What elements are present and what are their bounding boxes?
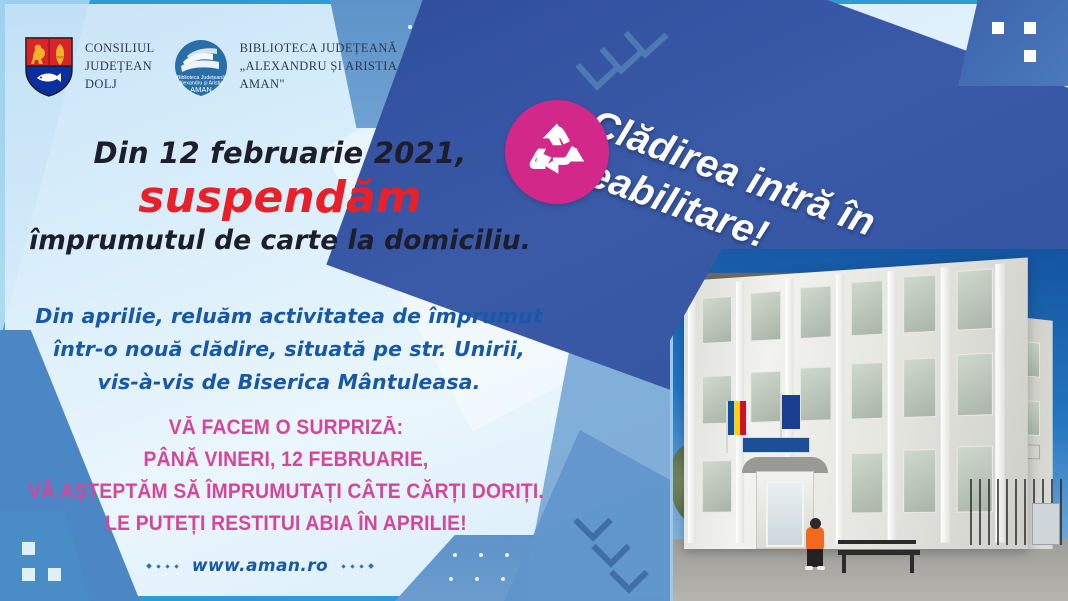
kiosk	[1032, 503, 1060, 545]
aman-library-emblem-icon: Biblioteca Județeană Alexandru și Aristi…	[173, 36, 229, 98]
headline-line-3: împrumutul de carte la domiciliu.	[0, 225, 560, 256]
council-line-3: DOLJ	[85, 75, 155, 93]
footer-bar: www.aman.ro	[0, 556, 520, 576]
promo-line-4: LE PUTEȚI RESTITUI ABIA ÎN APRILIE!	[23, 508, 549, 540]
council-line-2: JUDEȚEAN	[85, 57, 155, 75]
library-line-3: AMAN"	[240, 75, 398, 93]
county-council-label: CONSILIUL JUDEȚEAN DOLJ	[85, 36, 155, 93]
footer-dots-right	[342, 564, 373, 568]
eu-flag	[782, 395, 800, 429]
paragraph-line-3: vis-à-vis de Biserica Mântuleasa.	[0, 366, 578, 399]
library-logo: Biblioteca Județeană Alexandru și Aristi…	[173, 36, 398, 98]
library-line-2: „ALEXANDRU ȘI ARISTIA	[240, 57, 398, 75]
library-label: BIBLIOTECA JUDEȚEANĂ „ALEXANDRU ȘI ARIST…	[240, 36, 398, 93]
svg-text:AMAN: AMAN	[190, 85, 212, 94]
promo-line-3: VĂ AȘTEPTĂM SĂ ÎMPRUMUTAȚI CÂTE CĂRȚI DO…	[23, 476, 549, 508]
top-right-corner-block	[958, 0, 1068, 86]
council-line-1: CONSILIUL	[85, 39, 155, 57]
paragraph-line-1: Din aprilie, reluăm activitatea de împru…	[0, 300, 578, 333]
promo-line-2: PÂNĂ VINERI, 12 FEBRUARIE,	[23, 444, 549, 476]
footer-dots-left	[147, 564, 178, 568]
headline-block: Din 12 februarie 2021, suspendăm împrumu…	[0, 136, 560, 256]
paragraph-line-2: într-o nouă clădire, situată pe str. Uni…	[0, 333, 578, 366]
person-legs	[807, 547, 823, 567]
entrance-door	[766, 481, 804, 547]
poster-canvas: Clădirea intră în reabilitare!	[0, 0, 1068, 601]
person-head	[810, 518, 821, 529]
headline-emphasis: suspendăm	[0, 172, 560, 224]
logo-row: CONSILIUL JUDEȚEAN DOLJ Biblioteca Județ…	[24, 36, 397, 98]
building-sign	[742, 437, 810, 453]
promo-block: VĂ FACEM O SURPRIZĂ: PÂNĂ VINERI, 12 FEB…	[23, 412, 549, 541]
county-council-logo: CONSILIUL JUDEȚEAN DOLJ	[24, 36, 155, 98]
library-building-photo	[670, 249, 1068, 601]
romania-flag	[728, 401, 746, 435]
chevron-group-top	[582, 12, 662, 92]
bench-seat	[838, 550, 920, 555]
promo-line-1: VĂ FACEM O SURPRIZĂ:	[23, 412, 549, 444]
info-paragraph: Din aprilie, reluăm activitatea de împru…	[0, 300, 578, 400]
website-url[interactable]: www.aman.ro	[192, 556, 328, 576]
library-line-1: BIBLIOTECA JUDEȚEANĂ	[240, 39, 398, 57]
person-body	[806, 527, 824, 549]
bench-back	[838, 540, 916, 544]
chevron-group-bottom	[575, 508, 655, 588]
headline-line-1: Din 12 februarie 2021,	[0, 136, 560, 170]
dolj-county-coat-of-arms-icon	[24, 36, 74, 98]
